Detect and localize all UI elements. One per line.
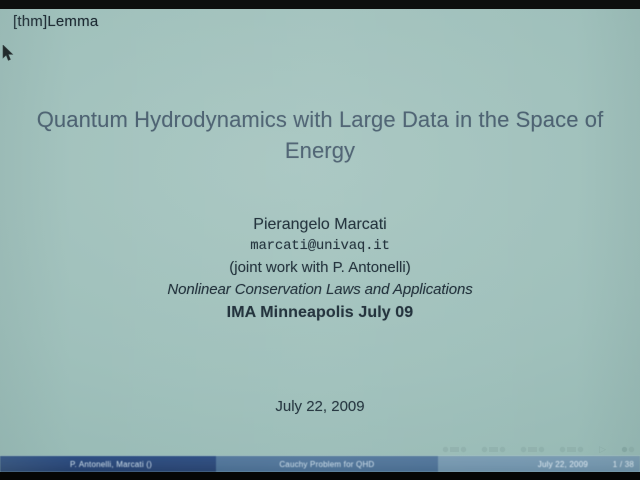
footline-author: P. Antonelli, Marcati ()	[0, 456, 216, 472]
footline-page-number: 1 / 38	[604, 460, 634, 469]
nav-dot-icon[interactable]	[560, 447, 565, 452]
venue-line: IMA Minneapolis July 09	[0, 301, 640, 324]
beamer-navigation-symbols[interactable]: ▷	[443, 446, 634, 452]
frame-nav-icon[interactable]	[482, 447, 505, 452]
mouse-pointer-icon	[2, 45, 14, 62]
presentation-nav-icon[interactable]: ▷	[599, 446, 606, 452]
nav-dot-icon[interactable]	[482, 447, 487, 452]
latex-artifact-text: [thm]Lemma	[13, 12, 98, 31]
nav-dot-icon[interactable]	[461, 447, 466, 452]
nav-dot-icon[interactable]	[500, 447, 505, 452]
nav-dot-icon[interactable]	[578, 447, 583, 452]
nav-dot-icon[interactable]	[629, 447, 634, 452]
author-email[interactable]: marcati@univaq.it	[0, 236, 640, 257]
joint-work-note: (joint work with P. Antonelli)	[0, 257, 640, 279]
screen-capture: [thm]Lemma Quantum Hydrodynamics with La…	[0, 0, 640, 480]
title-block: Quantum Hydrodynamics with Large Data in…	[0, 104, 640, 166]
author-name: Pierangelo Marcati	[0, 214, 640, 236]
presentation-slide[interactable]: [thm]Lemma Quantum Hydrodynamics with La…	[0, 9, 640, 472]
author-block: Pierangelo Marcati marcati@univaq.it (jo…	[0, 214, 640, 324]
nav-bar-icon[interactable]	[567, 447, 576, 452]
nav-dot-icon[interactable]	[622, 447, 627, 452]
nav-bar-icon[interactable]	[489, 447, 498, 452]
conference-name: Nonlinear Conservation Laws and Applicat…	[0, 279, 640, 301]
footline-meta: July 22, 2009 1 / 38	[438, 456, 640, 472]
appendix-nav-icon[interactable]	[622, 447, 634, 452]
slide-date: July 22, 2009	[0, 398, 640, 415]
nav-bar-icon[interactable]	[528, 447, 537, 452]
nav-dot-icon[interactable]	[539, 447, 544, 452]
section-nav-icon[interactable]	[560, 447, 583, 452]
beamer-footline: P. Antonelli, Marcati () Cauchy Problem …	[0, 456, 640, 472]
nav-dot-icon[interactable]	[443, 447, 448, 452]
nav-bar-icon[interactable]	[450, 447, 459, 452]
nav-dot-icon[interactable]	[521, 447, 526, 452]
slide-title: Quantum Hydrodynamics with Large Data in…	[0, 104, 640, 166]
letterbox-bar-top	[0, 0, 640, 9]
letterbox-bar-bottom	[0, 472, 640, 480]
chevron-right-icon[interactable]: ▷	[599, 446, 606, 452]
footline-short-title: Cauchy Problem for QHD	[216, 456, 438, 472]
subsection-nav-icon[interactable]	[521, 447, 544, 452]
slide-nav-icon[interactable]	[443, 447, 466, 452]
footline-date: July 22, 2009	[538, 460, 588, 469]
